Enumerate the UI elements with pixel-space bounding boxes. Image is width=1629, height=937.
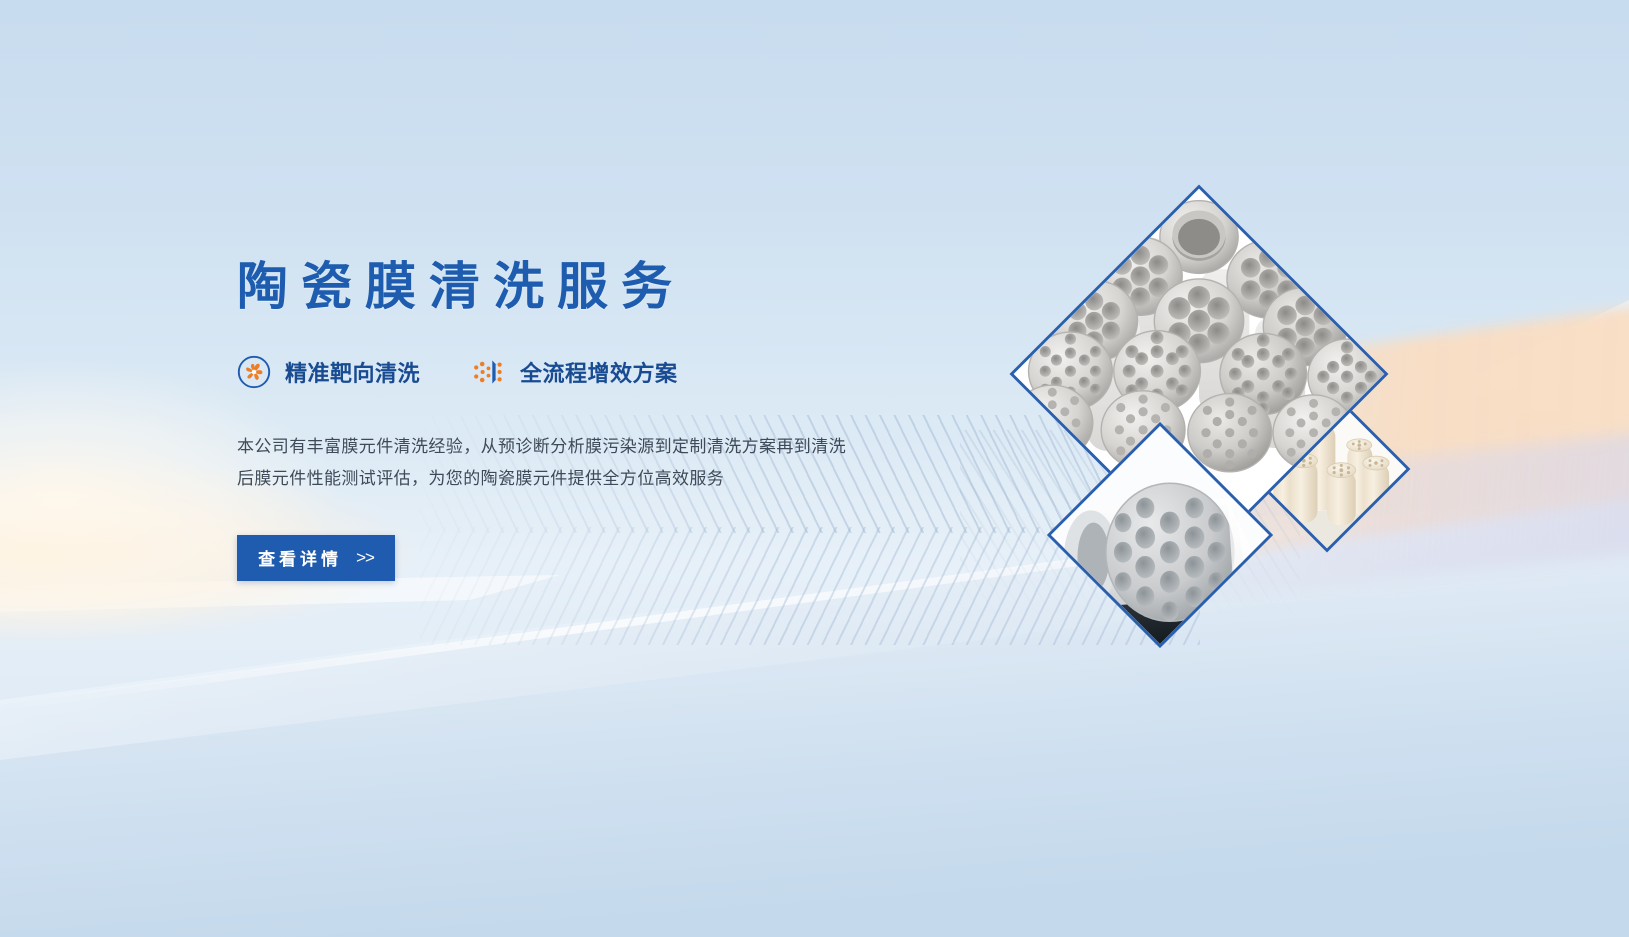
process-flow-arrow-icon xyxy=(472,355,506,389)
description-line: 后膜元件性能测试评估，为您的陶瓷膜元件提供全方位高效服务 xyxy=(237,463,897,495)
pinwheel-flower-icon xyxy=(237,355,271,389)
hero-content: 陶瓷膜清洗服务 xyxy=(237,258,977,581)
feature-label: 全流程增效方案 xyxy=(520,356,678,388)
view-details-button[interactable]: 查看详情 >> xyxy=(237,535,395,581)
hero-description: 本公司有丰富膜元件清洗经验，从预诊断分析膜污染源到定制清洗方案再到清洗 后膜元件… xyxy=(237,431,897,495)
feature-list: 精准靶向清洗 xyxy=(237,355,977,389)
chevron-right-icon: >> xyxy=(356,548,374,568)
view-details-label: 查看详情 xyxy=(258,545,342,570)
description-line: 本公司有丰富膜元件清洗经验，从预诊断分析膜污染源到定制清洗方案再到清洗 xyxy=(237,431,897,463)
feature-item-full-process: 全流程增效方案 xyxy=(472,355,678,389)
feature-label: 精准靶向清洗 xyxy=(285,356,420,388)
feature-item-precision-cleaning: 精准靶向清洗 xyxy=(237,355,420,389)
hero-banner: 陶瓷膜清洗服务 xyxy=(0,0,1629,937)
page-title: 陶瓷膜清洗服务 xyxy=(237,258,977,317)
